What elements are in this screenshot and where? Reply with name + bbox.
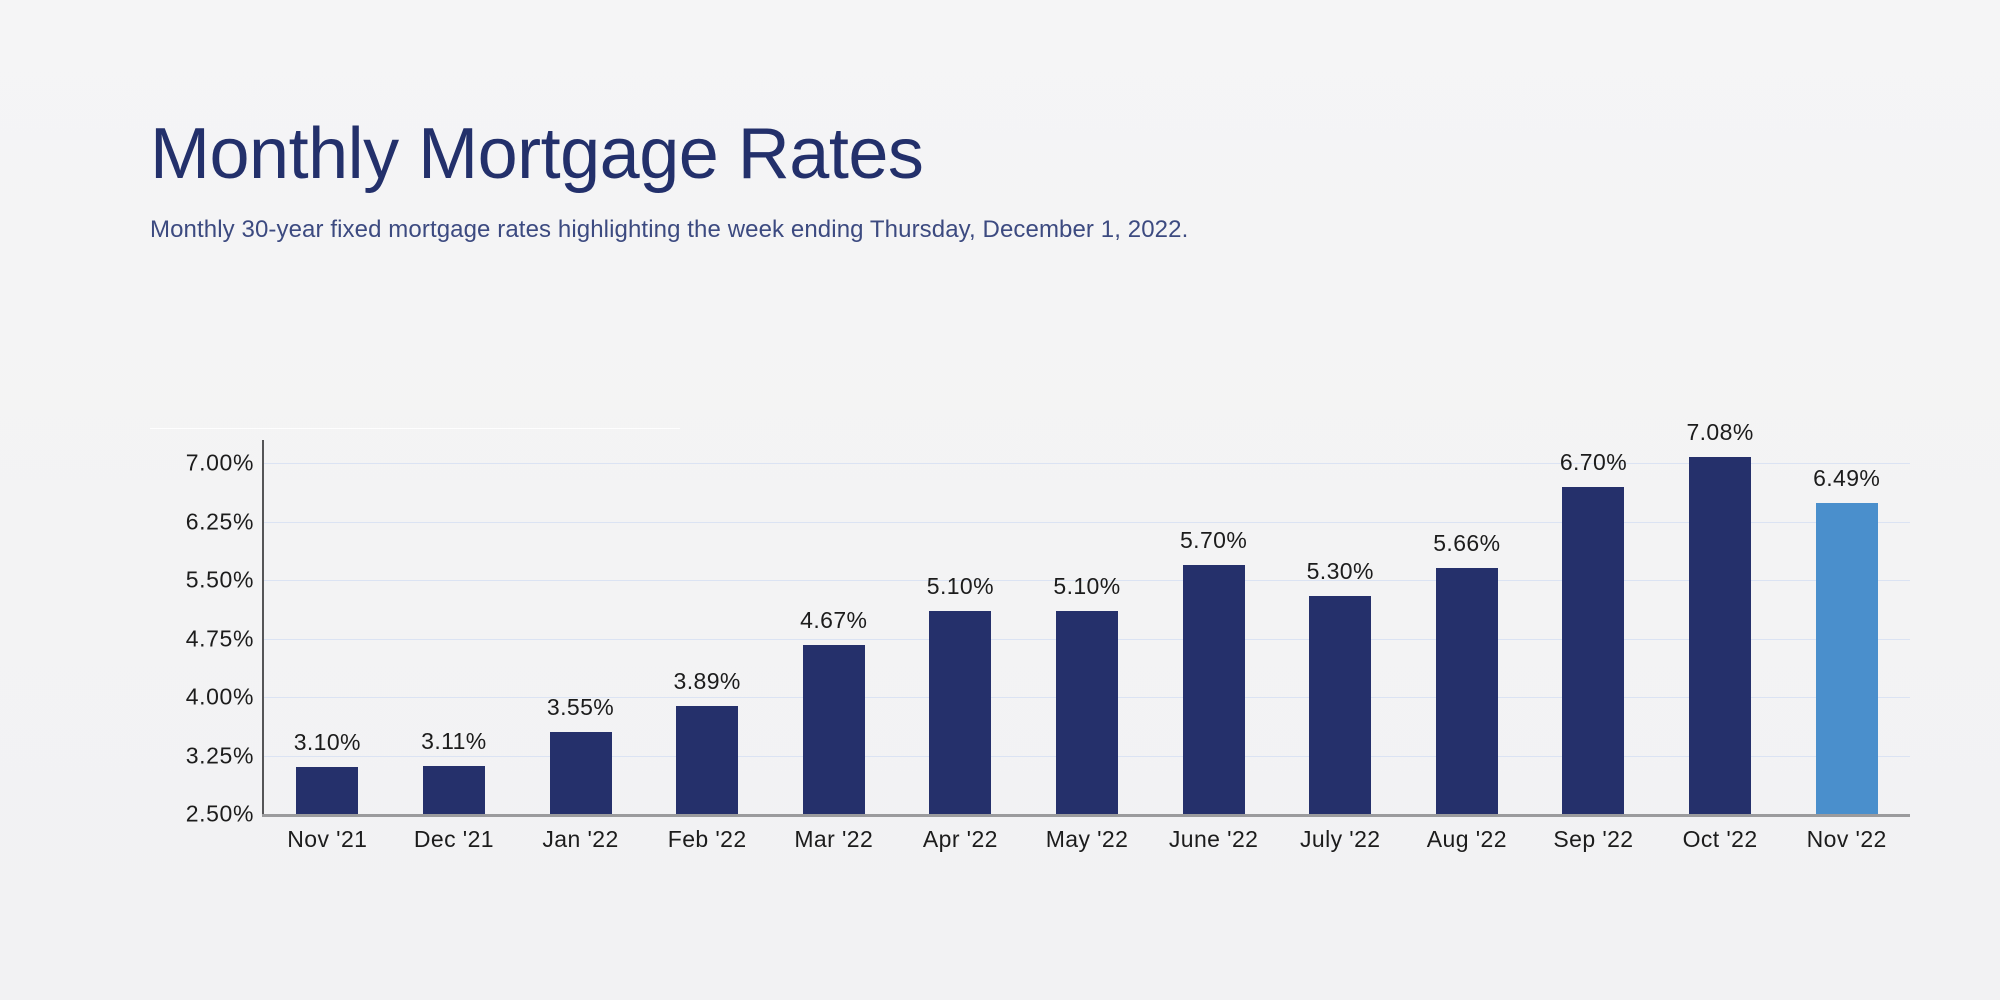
x-tick-label: Nov '21 (287, 826, 367, 853)
y-tick-label: 6.25% (186, 508, 254, 535)
bar-value-label: 6.49% (1813, 465, 1880, 492)
x-tick-label: June '22 (1169, 826, 1258, 853)
bar-value-label: 3.55% (547, 694, 614, 721)
bar-highlighted[interactable] (1816, 503, 1878, 814)
bar-slot: 4.67% (770, 440, 897, 814)
bar-value-label: 3.11% (421, 728, 487, 755)
bar-slot: 6.70% (1530, 440, 1657, 814)
bar-value-label: 5.10% (927, 573, 994, 600)
bar-slot: 3.55% (517, 440, 644, 814)
x-tick-label: July '22 (1300, 826, 1380, 853)
y-tick-label: 3.25% (186, 742, 254, 769)
bar[interactable] (929, 611, 991, 814)
bar-value-label: 3.10% (294, 729, 361, 756)
x-tick-label: Feb '22 (668, 826, 747, 853)
bar[interactable] (1562, 487, 1624, 814)
bar-slot: 5.10% (1024, 440, 1151, 814)
x-tick-label: Mar '22 (794, 826, 873, 853)
bar-value-label: 5.30% (1307, 558, 1374, 585)
bar[interactable] (550, 732, 612, 814)
x-tick-label: Apr '22 (923, 826, 998, 853)
bars-layer: 3.10%3.11%3.55%3.89%4.67%5.10%5.10%5.70%… (264, 440, 1910, 814)
y-tick-label: 2.50% (186, 801, 254, 828)
y-tick-label: 7.00% (186, 450, 254, 477)
bar[interactable] (803, 645, 865, 814)
chart-header: Monthly Mortgage Rates Monthly 30-year f… (150, 118, 1850, 244)
bar-slot: 6.49% (1783, 440, 1910, 814)
x-tick-label: Jan '22 (542, 826, 618, 853)
bar[interactable] (1183, 565, 1245, 814)
bar-slot: 5.70% (1150, 440, 1277, 814)
y-tick-label: 4.00% (186, 684, 254, 711)
y-axis-tick-labels: 7.00%6.25%5.50%4.75%4.00%3.25%2.50% (150, 440, 262, 832)
bar[interactable] (1309, 596, 1371, 814)
bar-value-label: 5.10% (1053, 573, 1120, 600)
x-tick-label: Oct '22 (1683, 826, 1758, 853)
x-tick-label: Aug '22 (1427, 826, 1507, 853)
bar[interactable] (1689, 457, 1751, 814)
chart-subtitle: Monthly 30-year fixed mortgage rates hig… (150, 190, 1850, 244)
bar-value-label: 4.67% (800, 607, 867, 634)
bar-value-label: 5.70% (1180, 527, 1247, 554)
x-axis-tick-labels: Nov '21Dec '21Jan '22Feb '22Mar '22Apr '… (264, 826, 1910, 866)
bar-slot: 3.10% (264, 440, 391, 814)
bar[interactable] (1056, 611, 1118, 814)
bar-slot: 5.66% (1404, 440, 1531, 814)
bar-slot: 3.89% (644, 440, 771, 814)
y-tick-label: 5.50% (186, 567, 254, 594)
x-tick-label: Dec '21 (414, 826, 494, 853)
bar-value-label: 7.08% (1686, 419, 1753, 446)
bar-value-label: 6.70% (1560, 449, 1627, 476)
y-tick-label: 4.75% (186, 625, 254, 652)
panel-top-edge (150, 428, 680, 429)
x-axis-baseline (262, 814, 1910, 817)
page-title: Monthly Mortgage Rates (150, 118, 1850, 190)
bar-slot: 5.30% (1277, 440, 1404, 814)
bar[interactable] (423, 766, 485, 814)
plot-wrapper: 7.00%6.25%5.50%4.75%4.00%3.25%2.50% 3.10… (150, 440, 1910, 832)
x-tick-label: May '22 (1046, 826, 1129, 853)
bar-slot: 7.08% (1657, 440, 1784, 814)
bar[interactable] (296, 767, 358, 814)
bar-value-label: 3.89% (674, 668, 741, 695)
bar[interactable] (1436, 568, 1498, 814)
bar-slot: 3.11% (391, 440, 518, 814)
x-tick-label: Sep '22 (1553, 826, 1633, 853)
plot-area: 3.10%3.11%3.55%3.89%4.67%5.10%5.10%5.70%… (264, 440, 1910, 814)
bar-slot: 5.10% (897, 440, 1024, 814)
bar[interactable] (676, 706, 738, 814)
x-tick-label: Nov '22 (1807, 826, 1887, 853)
bar-value-label: 5.66% (1433, 530, 1500, 557)
bar-chart: 7.00%6.25%5.50%4.75%4.00%3.25%2.50% 3.10… (150, 428, 1910, 848)
